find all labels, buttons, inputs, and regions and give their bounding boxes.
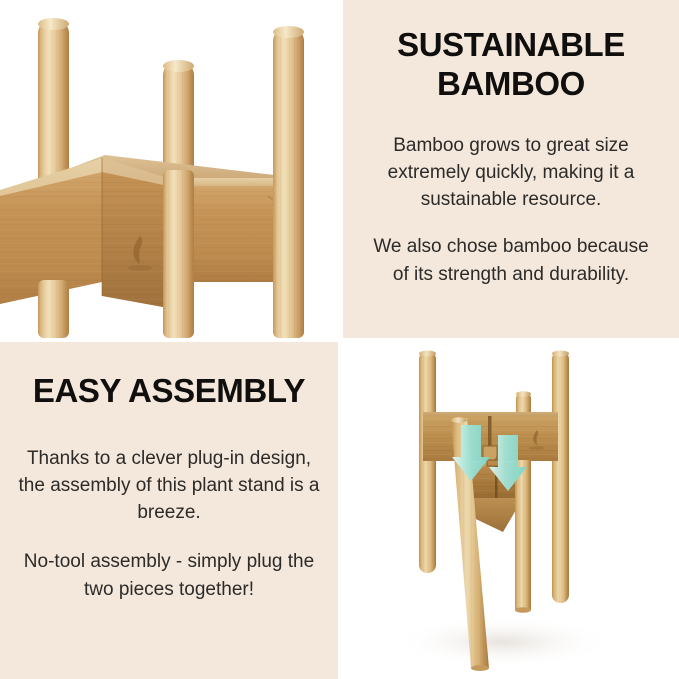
bamboo-rail-center-notch: [102, 158, 168, 308]
stand-upper-crossboard: [423, 412, 558, 462]
bamboo-leg-left-front: [38, 280, 69, 338]
sustainable-bamboo-heading: SUSTAINABLE BAMBOO: [363, 26, 659, 104]
bamboo-leg-right-front: [273, 170, 304, 338]
quadrant-top-left: Close-up photograph of the bamboo plant …: [0, 0, 338, 338]
feature-grid: Close-up photograph of the bamboo plant …: [0, 0, 679, 679]
sustainable-bamboo-body: Bamboo grows to great size extremely qui…: [363, 108, 659, 288]
stand-leg-back-left: [419, 351, 436, 574]
stand-leg-front-right: [515, 460, 531, 613]
easy-assembly-paragraph-2: No-tool assembly - simply plug the two p…: [17, 548, 321, 602]
quadrant-bottom-left: EASY ASSEMBLY Thanks to a clever plug-in…: [0, 342, 338, 679]
bamboo-joint-illustration: [0, 0, 338, 338]
sustainable-bamboo-panel: SUSTAINABLE BAMBOO Bamboo grows to great…: [343, 0, 679, 338]
quadrant-bottom-right: Bamboo plant stand being assembled, two …: [343, 342, 679, 679]
stand-leg-back-right: [552, 351, 569, 604]
sustainable-bamboo-paragraph-1: Bamboo grows to great size extremely qui…: [366, 132, 656, 213]
floor-shadow: [393, 616, 613, 668]
plant-stand-assembly-illustration: [343, 342, 679, 679]
easy-assembly-body: Thanks to a clever plug-in design, the a…: [14, 415, 324, 603]
upper-board-slot: [488, 416, 492, 449]
bamboo-joint-closeup-photo: Close-up photograph of the bamboo plant …: [0, 0, 338, 338]
quadrant-top-right: SUSTAINABLE BAMBOO Bamboo grows to great…: [343, 0, 679, 338]
easy-assembly-paragraph-1: Thanks to a clever plug-in design, the a…: [17, 445, 321, 526]
sustainable-bamboo-paragraph-2: We also chose bamboo because of its stre…: [366, 233, 656, 287]
easy-assembly-panel: EASY ASSEMBLY Thanks to a clever plug-in…: [0, 342, 338, 679]
plant-stand-assembly-photo: Bamboo plant stand being assembled, two …: [343, 342, 679, 679]
easy-assembly-heading: EASY ASSEMBLY: [33, 372, 305, 411]
bamboo-leg-middle-front: [163, 170, 194, 338]
